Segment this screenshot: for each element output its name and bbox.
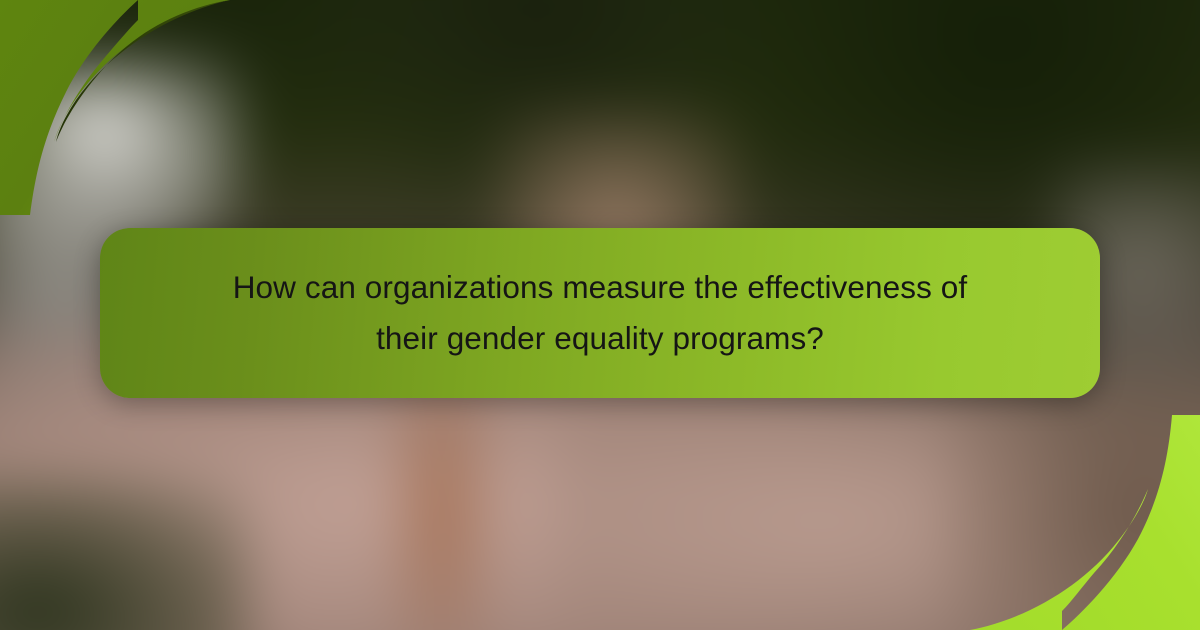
question-text: How can organizations measure the effect… (205, 262, 995, 364)
background-shadow-bottom-right (950, 384, 1200, 630)
background-foliage-bottom-left (0, 479, 250, 630)
question-card: How can organizations measure the effect… (100, 228, 1100, 398)
background-hair-strand (393, 389, 488, 630)
social-card-canvas: How can organizations measure the effect… (0, 0, 1200, 630)
background-window-highlight-secondary (28, 82, 176, 156)
